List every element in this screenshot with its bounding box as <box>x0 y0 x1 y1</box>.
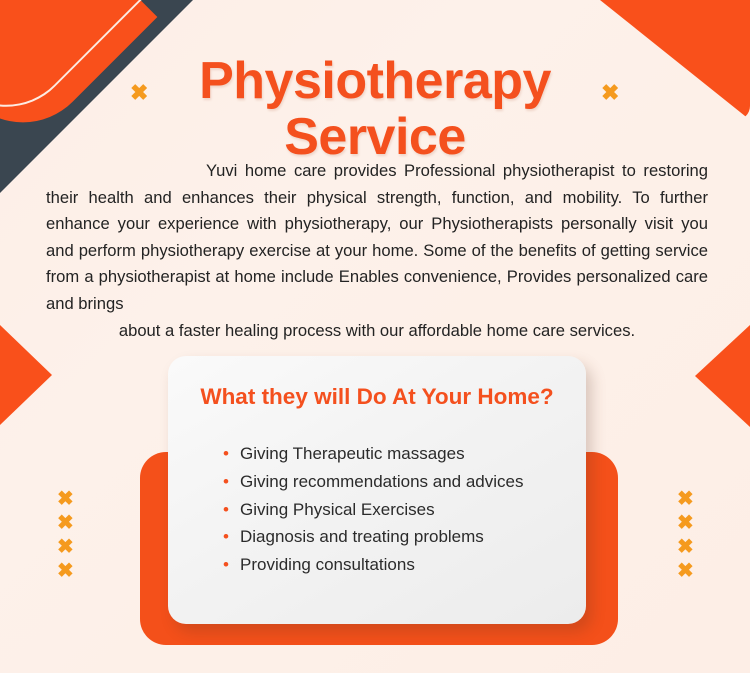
services-card: What they will Do At Your Home? •Giving … <box>168 356 586 624</box>
left-edge-arrow-triangle <box>0 325 52 425</box>
list-item: •Providing consultations <box>240 551 586 579</box>
bullet-icon: • <box>223 523 229 551</box>
bullet-icon: • <box>223 468 229 496</box>
sparkle-x-icon-right-2: ✖ <box>677 513 694 533</box>
list-item-label: Giving Physical Exercises <box>240 500 435 519</box>
bullet-icon: • <box>223 551 229 579</box>
sparkle-x-icon-right-4: ✖ <box>677 561 694 581</box>
page-title-line-2: Service <box>0 109 750 165</box>
bullet-icon: • <box>223 496 229 524</box>
sparkle-x-icon-left-3: ✖ <box>57 537 74 557</box>
intro-paragraph: Yuvi home care provides Professional phy… <box>46 158 708 344</box>
services-list: •Giving Therapeutic massages •Giving rec… <box>168 440 586 579</box>
list-item: •Giving recommendations and advices <box>240 468 586 496</box>
sparkle-x-icon-right-3: ✖ <box>677 537 694 557</box>
intro-paragraph-text: Yuvi home care provides Professional phy… <box>46 161 708 313</box>
page-title-line-1: Physiotherapy <box>199 52 551 110</box>
bullet-icon: • <box>223 440 229 468</box>
list-item-label: Diagnosis and treating problems <box>240 527 484 546</box>
intro-paragraph-last-line: about a faster healing process with our … <box>46 318 708 345</box>
list-item-label: Providing consultations <box>240 555 415 574</box>
services-card-heading: What they will Do At Your Home? <box>168 384 586 410</box>
physiotherapy-service-poster: ✖ ✖ ✖ ✖ ✖ ✖ ✖ ✖ ✖ ✖ Physiotherapy Servic… <box>0 0 750 673</box>
list-item: •Giving Physical Exercises <box>240 496 586 524</box>
page-title: Physiotherapy Service <box>0 53 750 165</box>
sparkle-x-icon-left-1: ✖ <box>57 489 74 509</box>
list-item: •Giving Therapeutic massages <box>240 440 586 468</box>
sparkle-x-icon-left-2: ✖ <box>57 513 74 533</box>
sparkle-x-icon-right-1: ✖ <box>677 489 694 509</box>
sparkle-x-icon-left-4: ✖ <box>57 561 74 581</box>
list-item-label: Giving recommendations and advices <box>240 472 523 491</box>
list-item-label: Giving Therapeutic massages <box>240 444 465 463</box>
list-item: •Diagnosis and treating problems <box>240 523 586 551</box>
